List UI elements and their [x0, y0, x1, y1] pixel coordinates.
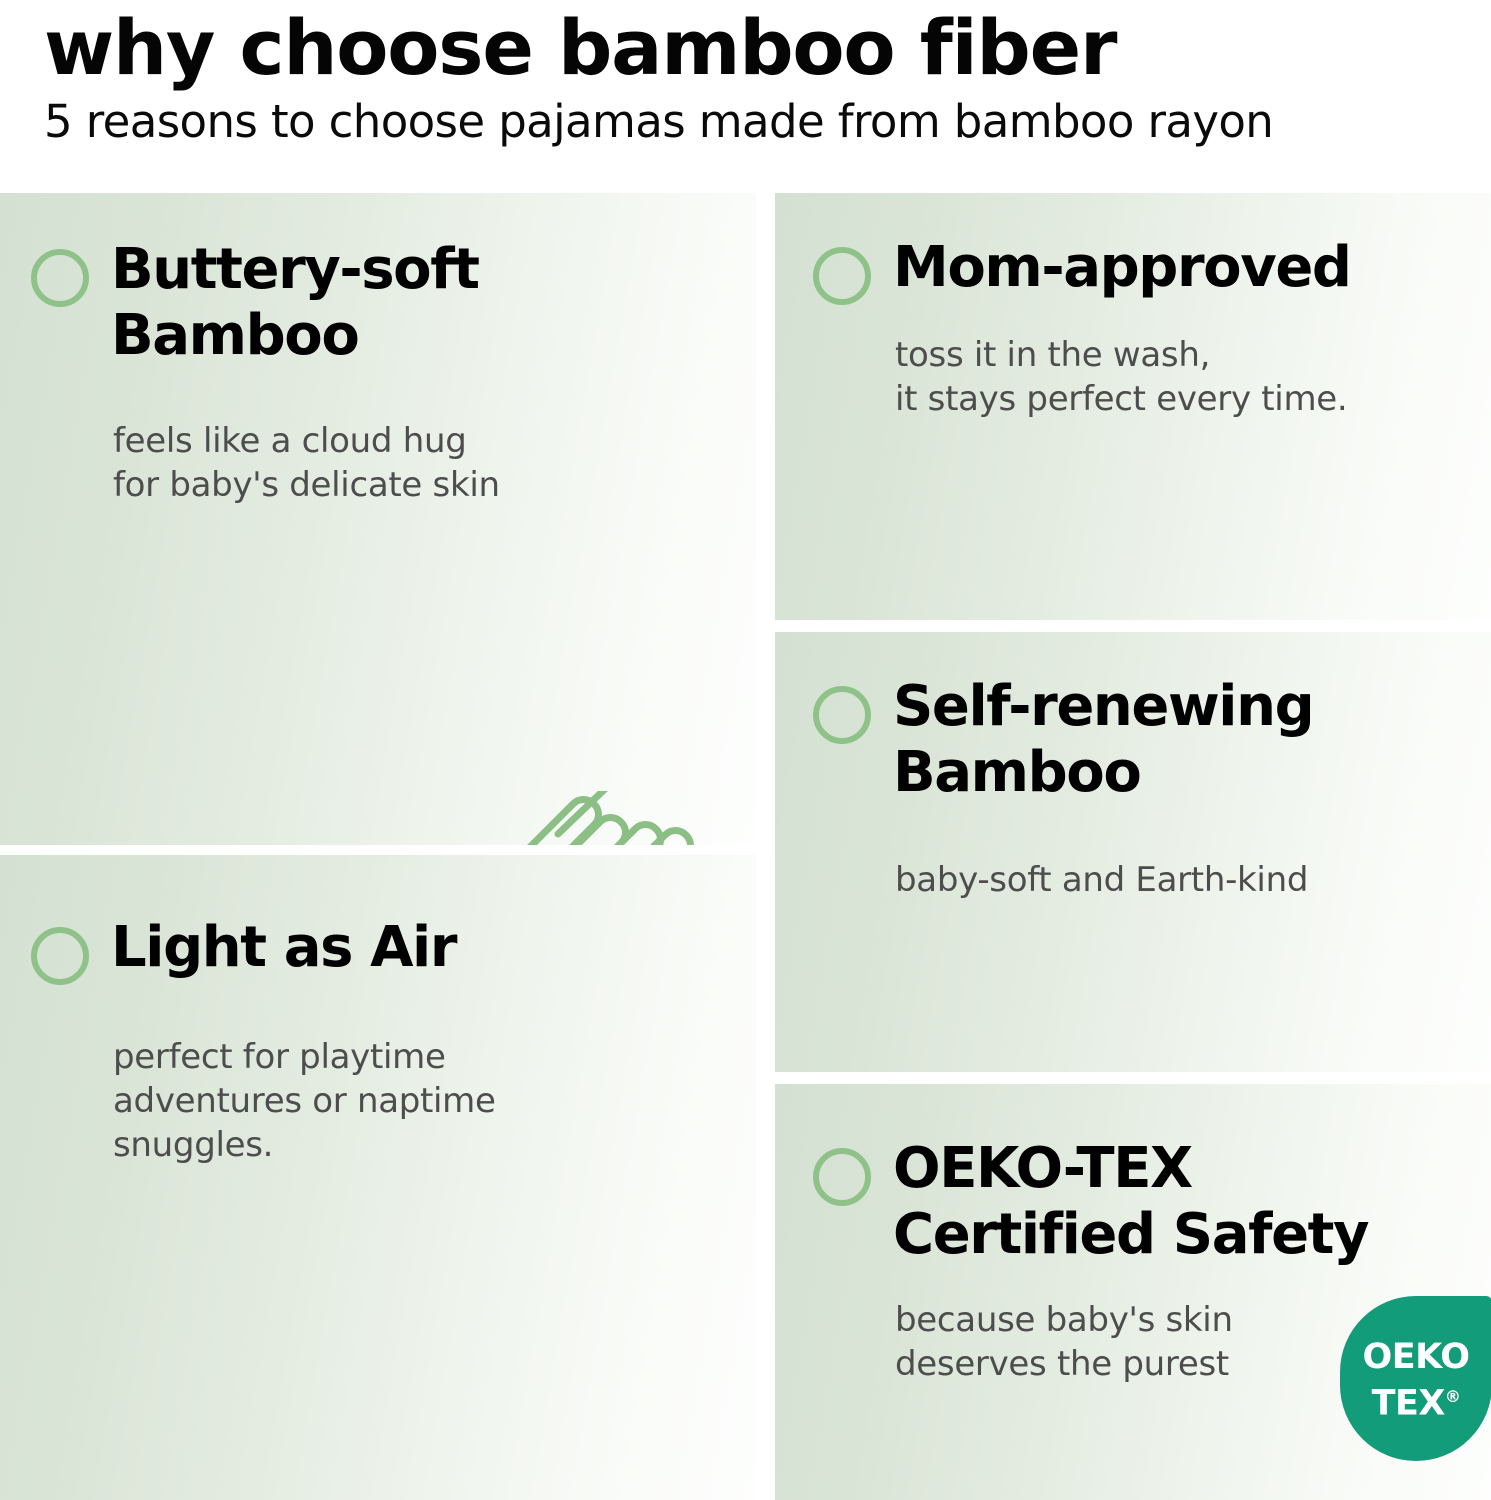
card-header: Mom-approved — [775, 193, 1491, 305]
card-title: Mom-approved — [893, 235, 1351, 301]
oeko-tex-badge: OEKO TEX® — [1340, 1296, 1491, 1461]
card-title: Buttery-soft Bamboo — [111, 237, 479, 369]
oeko-badge-line-2: TEX® — [1372, 1377, 1461, 1424]
card-description: toss it in the wash, it stays perfect ev… — [775, 305, 1491, 421]
circle-bullet-icon — [31, 927, 89, 985]
oeko-badge-line-1: OEKO — [1363, 1338, 1470, 1377]
infographic-root: why choose bamboo fiber 5 reasons to cho… — [0, 0, 1491, 1500]
card-description: feels like a cloud hug for baby's delica… — [0, 369, 756, 507]
card-title: OEKO-TEX Certified Safety — [893, 1136, 1368, 1268]
page-title: why choose bamboo fiber — [44, 0, 1491, 88]
card-header: Buttery-soft Bamboo — [0, 193, 756, 369]
card-header: Self-renewing Bamboo — [775, 632, 1491, 806]
circle-bullet-icon — [813, 686, 871, 744]
card-title: Light as Air — [111, 915, 456, 981]
soft-touch-hand-icon — [495, 791, 730, 845]
card-description: baby-soft and Earth-kind — [775, 806, 1491, 902]
card-description: perfect for playtime adventures or napti… — [0, 985, 756, 1167]
card-self-renewing-bamboo: Self-renewing Bamboo baby-soft and Earth… — [775, 632, 1491, 1072]
card-header: OEKO-TEX Certified Safety — [775, 1084, 1491, 1268]
registered-mark: ® — [1445, 1387, 1461, 1406]
card-light-as-air: Light as Air perfect for playtime advent… — [0, 855, 756, 1500]
circle-bullet-icon — [31, 249, 89, 307]
circle-bullet-icon — [813, 247, 871, 305]
card-title: Self-renewing Bamboo — [893, 674, 1313, 806]
page-subtitle: 5 reasons to choose pajamas made from ba… — [44, 94, 1491, 150]
header: why choose bamboo fiber 5 reasons to cho… — [0, 0, 1491, 180]
card-header: Light as Air — [0, 855, 756, 985]
circle-bullet-icon — [813, 1148, 871, 1206]
card-mom-approved: Mom-approved toss it in the wash, it sta… — [775, 193, 1491, 620]
card-buttery-soft-bamboo: Buttery-soft Bamboo feels like a cloud h… — [0, 193, 756, 845]
oeko-badge-text: TEX — [1372, 1383, 1445, 1423]
